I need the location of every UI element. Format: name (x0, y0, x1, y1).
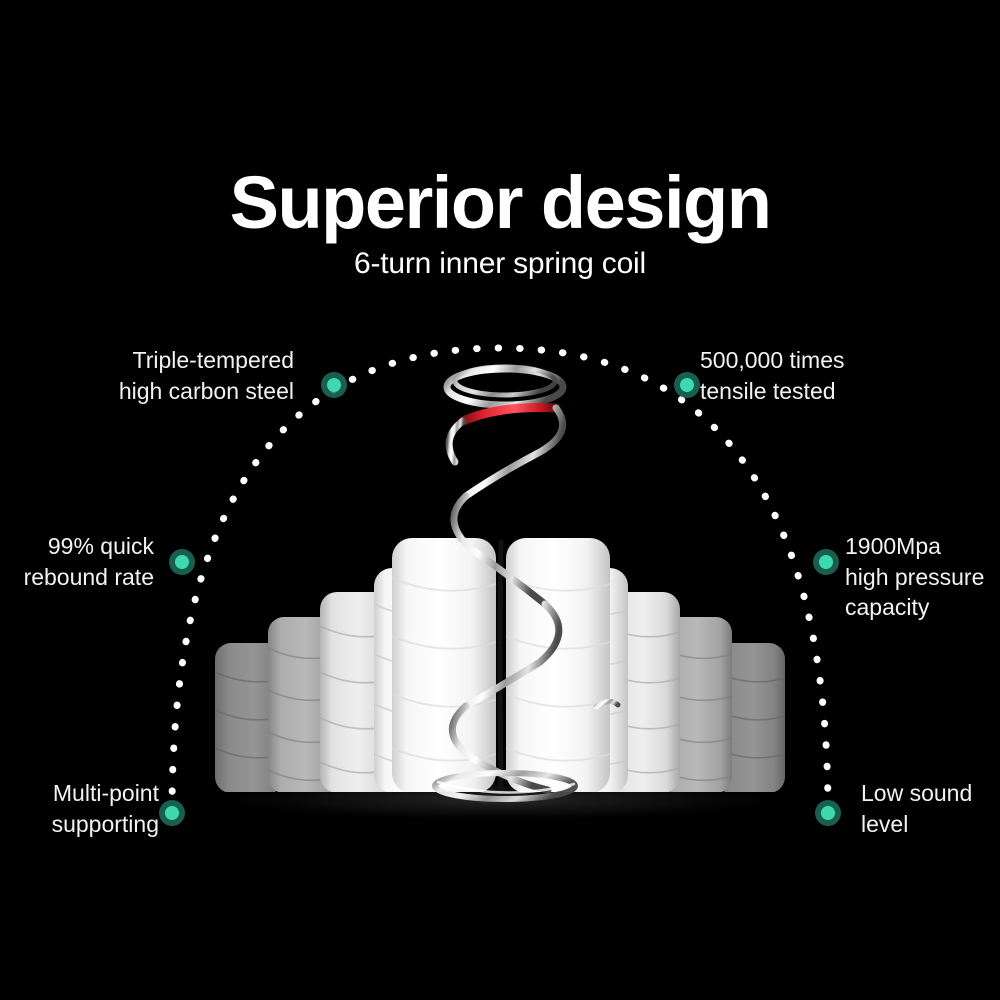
callout-line: capacity (845, 592, 984, 623)
page-subtitle: 6-turn inner spring coil (0, 249, 1000, 279)
spring-highlight-segment (463, 408, 556, 421)
callout-line: high pressure (845, 562, 984, 593)
callout-line: rebound rate (24, 562, 154, 593)
pocket-spring-center-right (506, 538, 610, 793)
callout-rebound-rate: 99% quick rebound rate (24, 531, 154, 592)
callout-tensile-tested: 500,000 times tensile tested (700, 345, 844, 406)
callout-low-sound-level: Low sound level (861, 778, 972, 839)
callout-multi-point-supporting: Multi-point supporting (52, 778, 159, 839)
callout-line: 1900Mpa (845, 531, 984, 562)
product-infographic: Superior design 6-turn inner spring coil… (0, 0, 1000, 1000)
callout-line: 500,000 times (700, 345, 844, 376)
callout-line: high carbon steel (119, 376, 294, 407)
spring-illustration (0, 0, 1000, 1000)
callout-line: Triple-tempered (119, 345, 294, 376)
callout-line: supporting (52, 809, 159, 840)
callout-line: Multi-point (52, 778, 159, 809)
callout-line: 99% quick (24, 531, 154, 562)
pocket-spring-stack (215, 538, 785, 793)
callout-line: tensile tested (700, 376, 844, 407)
center-seam (500, 540, 501, 792)
callout-line: Low sound (861, 778, 972, 809)
callout-high-pressure-capacity: 1900Mpa high pressure capacity (845, 531, 984, 623)
page-title: Superior design (0, 166, 1000, 240)
pocket-spring-center-left (392, 538, 496, 793)
callout-triple-tempered: Triple-tempered high carbon steel (119, 345, 294, 406)
callout-line: level (861, 809, 972, 840)
